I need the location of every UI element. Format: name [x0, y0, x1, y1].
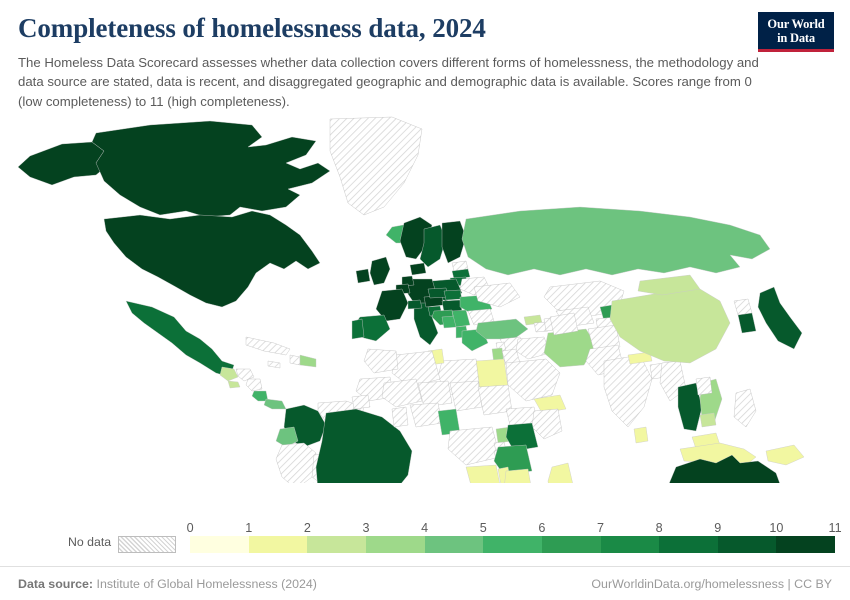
map-country-papua-new-guinea[interactable]: Papua New Guinea — 1 [766, 445, 804, 465]
legend-bin-9[interactable] [718, 536, 777, 553]
legend-bin-4[interactable] [425, 536, 484, 553]
map-country-cuba[interactable]: Cuba — No data [246, 337, 290, 355]
map-country-mexico[interactable]: Mexico — 8 [126, 301, 234, 377]
legend-bin-6[interactable] [542, 536, 601, 553]
chart-footer: Data source: Institute of Global Homeles… [0, 566, 850, 600]
map-country-india[interactable]: India — No data [604, 355, 652, 427]
legend-bin-0[interactable] [190, 536, 249, 553]
map-country-mali[interactable]: Mali — No data [382, 379, 422, 407]
chart-container: Completeness of homelessness data, 2024 … [0, 0, 850, 600]
map-country-alaska[interactable]: Alaska — 11 [18, 142, 108, 185]
map-country-saudi-arabia[interactable]: Saudi Arabia — No data [506, 359, 560, 401]
map-country-finland[interactable]: Finland — 10 [442, 221, 466, 263]
legend-tick-row: 01234567891011 [190, 517, 835, 536]
legend-tick-1: 1 [245, 521, 252, 535]
legend-tick-3: 3 [362, 521, 369, 535]
map-country-zambia[interactable]: Zambia — 1 [466, 465, 500, 483]
map-country-guatemala[interactable]: Guatemala — 2 [220, 367, 238, 381]
legend-bin-5[interactable] [483, 536, 542, 553]
map-svg: Alaska — 11Canada — 11Greenland — No dat… [0, 111, 850, 483]
map-country-united-states[interactable]: United States — 11 [104, 211, 320, 307]
legend-tick-6: 6 [538, 521, 545, 535]
chart-subtitle: The Homeless Data Scorecard assesses whe… [18, 53, 763, 112]
footer-attribution[interactable]: OurWorldinData.org/homelessness | CC BY [591, 577, 832, 591]
map-country-haiti[interactable]: Haiti — No data [290, 355, 300, 365]
map-country-north-korea[interactable]: North Korea — No data [734, 299, 752, 315]
footer-source-value: Institute of Global Homelessness (2024) [97, 577, 317, 591]
map-country-sri-lanka[interactable]: Sri Lanka — 1 [634, 427, 648, 443]
legend-tick-10: 10 [769, 521, 783, 535]
map-country-philippines[interactable]: Philippines — No data [734, 389, 756, 427]
chart-header: Completeness of homelessness data, 2024 … [0, 0, 850, 111]
legend-tick-8: 8 [656, 521, 663, 535]
legend-bin-1[interactable] [249, 536, 308, 553]
map-country-united-kingdom[interactable]: United Kingdom — 10 [370, 257, 390, 285]
footer-source-label: Data source: [18, 577, 93, 591]
map-country-japan[interactable]: Japan — 9 [758, 287, 802, 349]
map-country-nigeria[interactable]: Nigeria — No data [410, 403, 442, 427]
legend-no-data[interactable]: No data [68, 535, 176, 558]
map-country-democratic-republic-of-congo[interactable]: Democratic Republic of Congo — No data [448, 427, 500, 465]
map-country-south-korea[interactable]: South Korea — 9 [738, 313, 756, 333]
map-country-chad[interactable]: Chad — No data [450, 381, 482, 411]
map-country-ghana[interactable]: Ghana — No data [392, 407, 408, 427]
legend-color-bar [190, 536, 835, 553]
map-country-laos[interactable]: Laos — No data [696, 377, 712, 395]
map-country-greenland[interactable]: Greenland — No data [330, 117, 422, 215]
legend-tick-11: 11 [829, 521, 842, 535]
page-title: Completeness of homelessness data, 2024 [18, 14, 738, 44]
owid-logo[interactable]: Our World in Data [758, 12, 834, 52]
owid-logo-line2: in Data [758, 31, 834, 45]
map-country-somalia[interactable]: Somalia — No data [532, 409, 562, 439]
map-country-nicaragua[interactable]: Nicaragua — No data [246, 379, 262, 391]
map-country-switzerland[interactable]: Switzerland — 9 [408, 300, 422, 309]
map-country-ireland[interactable]: Ireland — 10 [356, 269, 370, 283]
owid-logo-line1: Our World [758, 17, 834, 31]
map-country-peru[interactable]: Peru — No data [276, 443, 316, 483]
map-country-panama[interactable]: Panama — 4 [264, 399, 286, 409]
legend-bin-10[interactable] [776, 536, 835, 553]
legend-bin-8[interactable] [659, 536, 718, 553]
legend-tick-2: 2 [304, 521, 311, 535]
legend-tick-5: 5 [480, 521, 487, 535]
legend-tick-0: 0 [187, 521, 194, 535]
legend-bin-3[interactable] [366, 536, 425, 553]
map-country-canada[interactable]: Canada — 11 [92, 121, 330, 217]
map-country-portugal[interactable]: Portugal — 8 [352, 319, 364, 339]
map-country-costa-rica[interactable]: Costa Rica — 5 [252, 391, 268, 401]
legend-no-data-swatch [118, 536, 176, 553]
map-country-turkmenistan[interactable]: Turkmenistan — No data [550, 313, 578, 335]
map-country-jamaica[interactable]: Jamaica — No data [268, 361, 280, 368]
legend-tick-7: 7 [597, 521, 604, 535]
map-legend: No data 01234567891011 [0, 500, 850, 558]
legend-bin-7[interactable] [601, 536, 660, 553]
map-country-el-salvador[interactable]: El Salvador — 2 [228, 381, 240, 388]
legend-no-data-label: No data [68, 535, 111, 553]
map-country-dominican-republic[interactable]: Dominican Republic — 3 [300, 355, 316, 367]
legend-tick-9: 9 [714, 521, 721, 535]
map-country-madagascar[interactable]: Madagascar — 1 [548, 463, 574, 483]
legend-scale[interactable]: 01234567891011 [190, 517, 835, 558]
map-country-senegal[interactable]: Senegal — No data [352, 395, 370, 409]
map-country-slovakia[interactable]: Slovakia — 8 [444, 290, 462, 300]
map-country-morocco[interactable]: Morocco — No data [364, 349, 398, 373]
map-country-russia[interactable]: Russia — 4 [462, 207, 770, 275]
map-country-denmark[interactable]: Denmark — 10 [410, 263, 426, 275]
map-country-cambodia[interactable]: Cambodia — 2 [700, 413, 716, 427]
legend-bin-2[interactable] [307, 536, 366, 553]
legend-tick-4: 4 [421, 521, 428, 535]
footer-source: Data source: Institute of Global Homeles… [18, 577, 317, 591]
map-country-china[interactable]: China — 2 [610, 289, 730, 363]
